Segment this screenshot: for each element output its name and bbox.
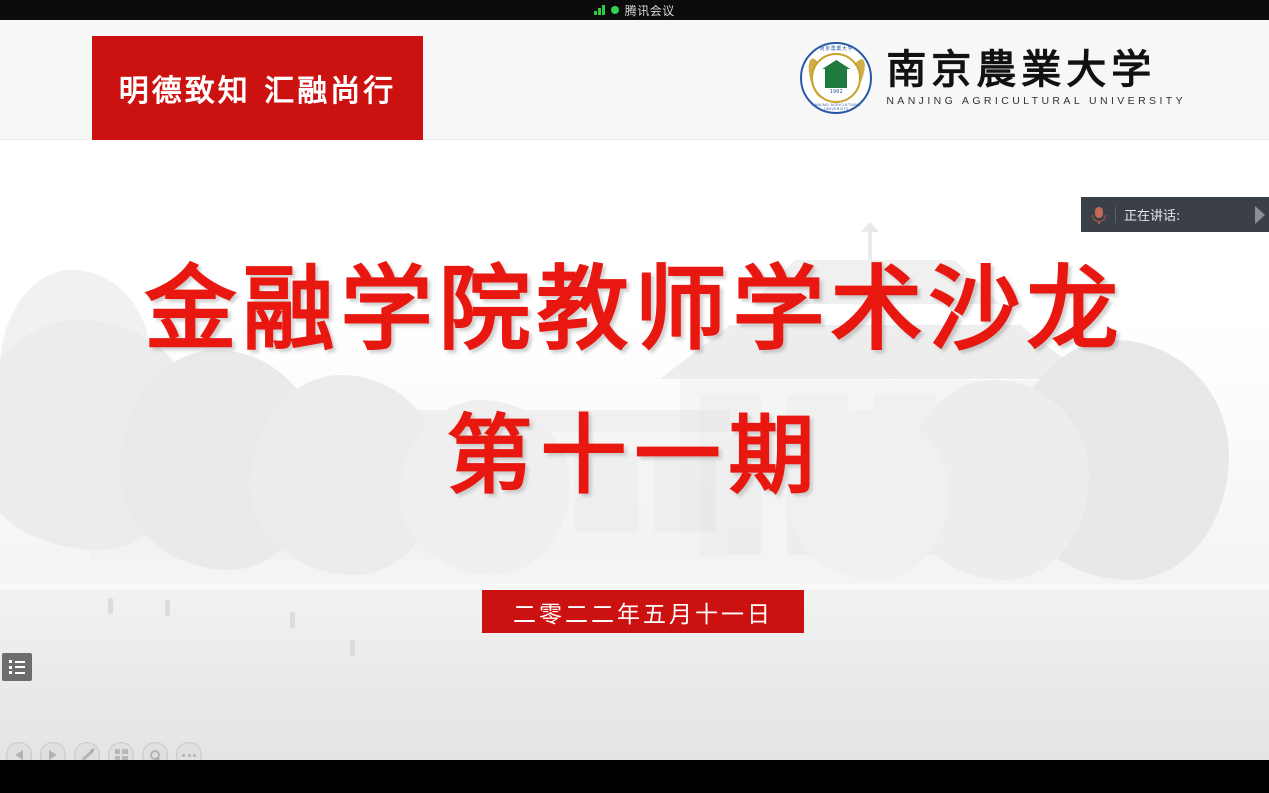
arrow-left-icon [15, 750, 23, 760]
signal-bars-icon [594, 5, 605, 15]
date-banner-text: 二零二二年五月十一日 [513, 595, 773, 629]
pen-icon [81, 750, 92, 760]
system-top-bar: 腾讯会议 [0, 0, 1269, 20]
next-slide-button[interactable] [40, 742, 66, 760]
slide-list-icon [9, 660, 25, 674]
microphone-icon [1091, 206, 1107, 224]
seal-arc-top-text: 南京農業大学 [800, 45, 872, 52]
seal-arc-bottom-text: NANJING AGRICULTURAL UNIVERSITY [800, 103, 872, 111]
ellipsis-icon [182, 754, 196, 757]
university-name-cn: 南京農業大学 [886, 49, 1156, 91]
chevron-collapse-icon[interactable] [1255, 206, 1265, 224]
logo-text-block: 南京農業大学 NANJING AGRICULTURAL UNIVERSITY [886, 49, 1186, 107]
background-person [290, 612, 295, 628]
meeting-app-name: 腾讯会议 [625, 2, 675, 19]
slide-title-sub: 第十一期 [0, 385, 1269, 510]
pen-tool-button[interactable] [74, 742, 100, 760]
background-person [108, 598, 113, 614]
seal-founding-year: 1902 [830, 89, 843, 95]
slide-grid-view-button[interactable] [108, 742, 134, 760]
magnifier-icon [150, 750, 160, 760]
background-person [350, 640, 355, 656]
slide-header-band: 明德致知 汇融尚行 南京農業大学 1902 NANJING AGRICULTUR… [0, 20, 1269, 140]
speaking-label: 正在讲话: [1124, 205, 1180, 224]
slide-list-button[interactable] [2, 653, 32, 681]
university-seal-icon: 南京農業大学 1902 NANJING AGRICULTURAL UNIVERS… [800, 42, 872, 114]
arrow-right-icon [49, 750, 57, 760]
screen-root: 腾讯会议 [0, 0, 1269, 793]
motto-banner: 明德致知 汇融尚行 [92, 36, 423, 140]
university-name-en: NANJING AGRICULTURAL UNIVERSITY [886, 95, 1186, 107]
previous-slide-button[interactable] [6, 742, 32, 760]
more-options-button[interactable] [176, 742, 202, 760]
bottom-letterbox [0, 760, 1269, 793]
green-status-dot-icon [611, 6, 619, 14]
background-person [165, 600, 170, 616]
speaking-indicator-bar[interactable]: 正在讲话: [1081, 197, 1269, 232]
slide-title-main: 金融学院教师学术沙龙 [0, 235, 1269, 368]
speaking-divider [1115, 207, 1116, 223]
university-logo: 南京農業大学 1902 NANJING AGRICULTURAL UNIVERS… [800, 42, 1186, 114]
motto-text: 明德致知 汇融尚行 [119, 66, 396, 110]
seal-building-icon [825, 68, 847, 88]
grid-icon [115, 749, 128, 761]
presentation-slide: 明德致知 汇融尚行 南京農業大学 1902 NANJING AGRICULTUR… [0, 20, 1269, 760]
ppt-control-bar [6, 742, 202, 760]
date-banner: 二零二二年五月十一日 [482, 590, 804, 633]
zoom-tool-button[interactable] [142, 742, 168, 760]
